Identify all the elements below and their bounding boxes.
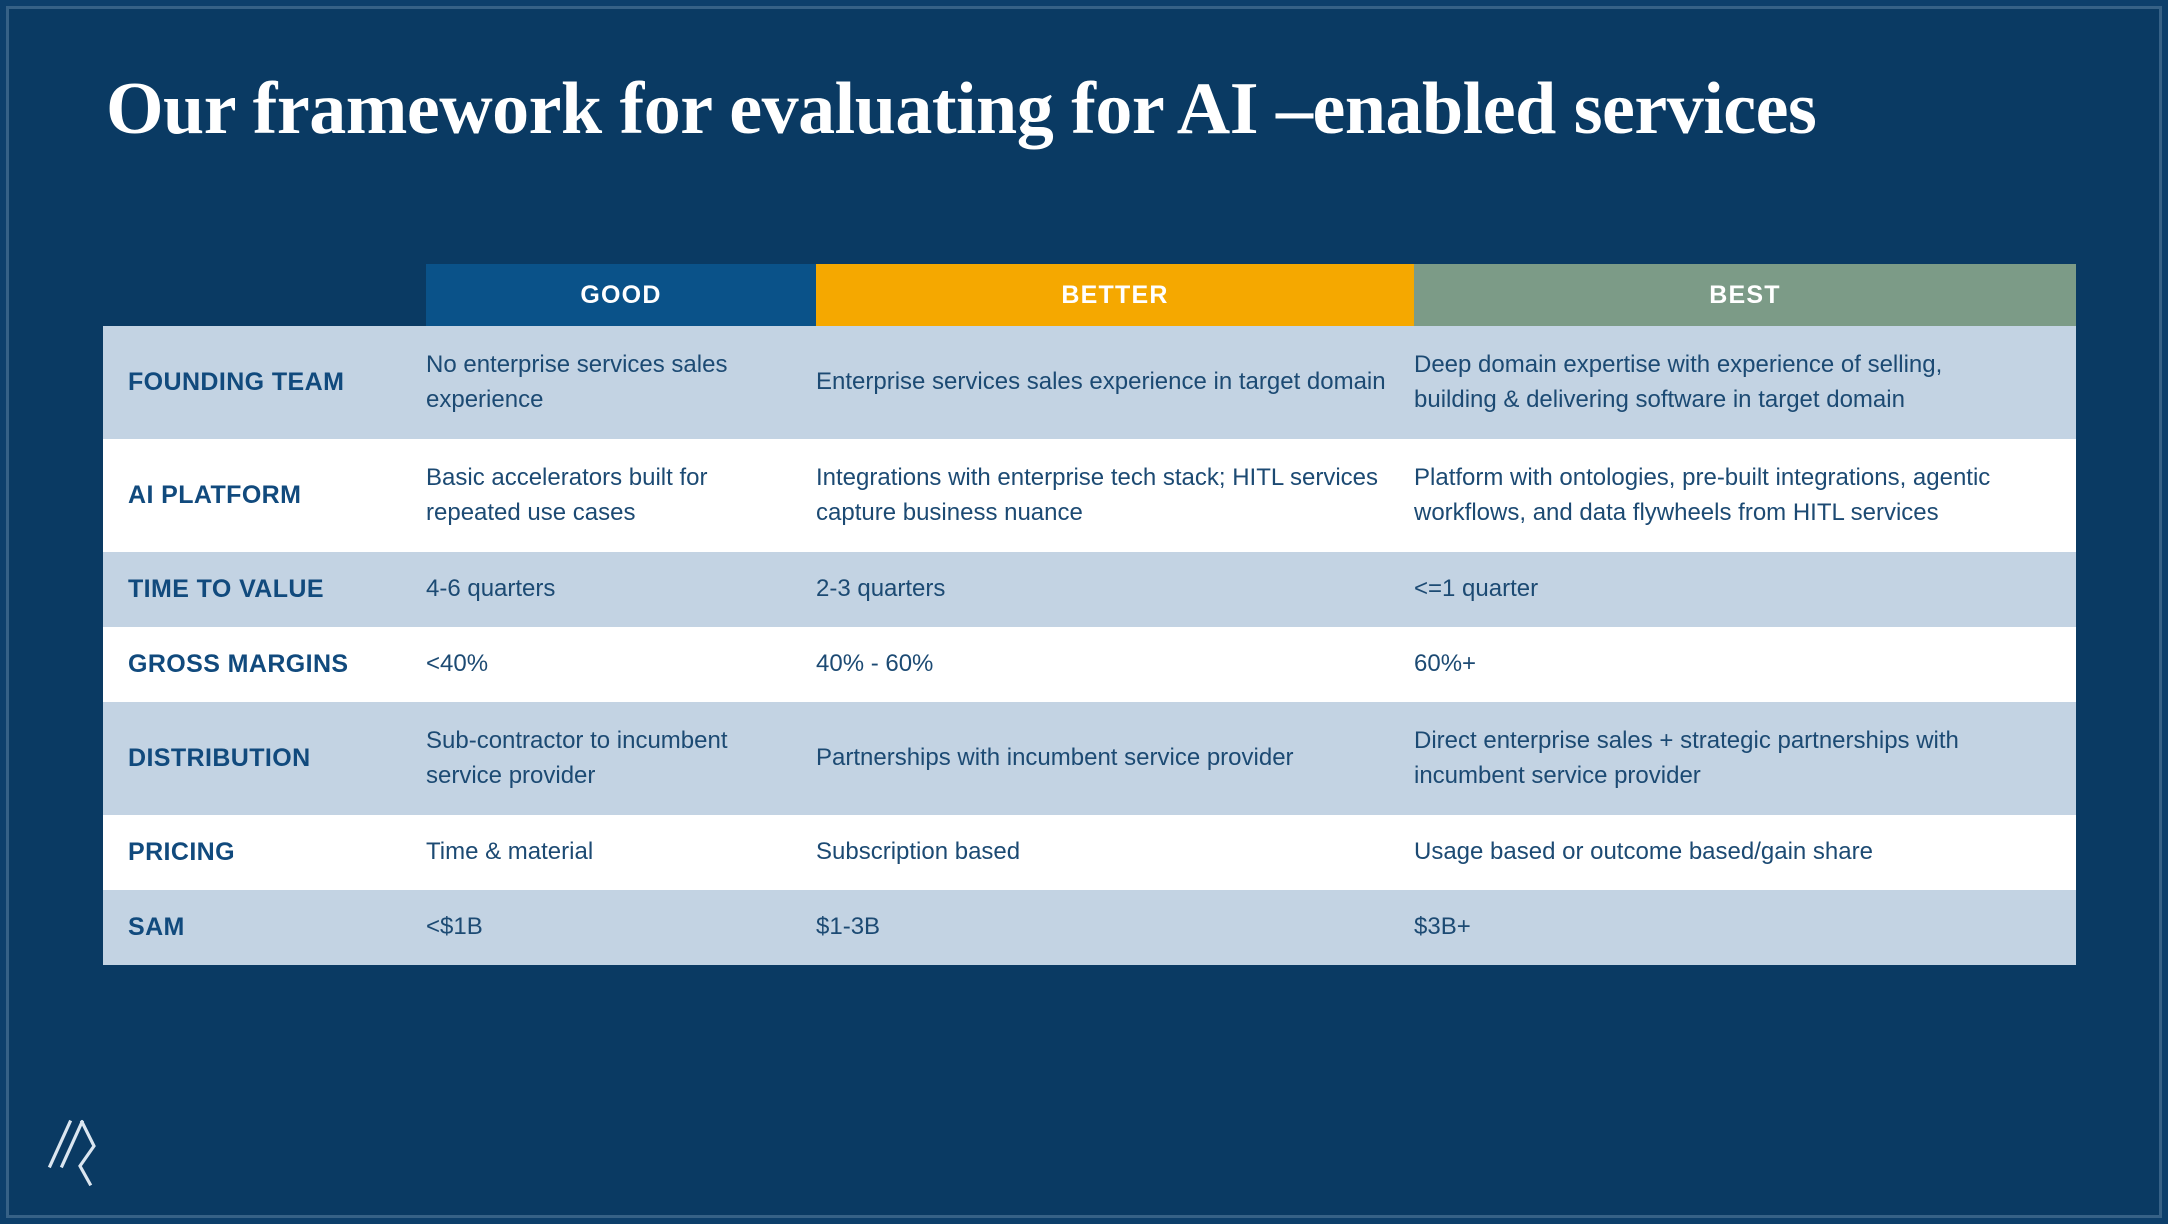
cell-good: Sub-contractor to incumbent service prov… [426, 724, 816, 792]
cell-good: <40% [426, 647, 816, 681]
cell-best: 60%+ [1414, 647, 2076, 681]
row-label: DISTRIBUTION [103, 742, 426, 775]
cell-good: Time & material [426, 835, 816, 869]
table-row: PRICINGTime & materialSubscription based… [103, 815, 2076, 890]
table-row: GROSS MARGINS<40%40% - 60%60%+ [103, 627, 2076, 702]
table-row: SAM<$1B$1-3B$3B+ [103, 890, 2076, 965]
column-header-best: BEST [1414, 264, 2076, 326]
cell-better: 40% - 60% [816, 647, 1414, 681]
cell-good: Basic accelerators built for repeated us… [426, 461, 816, 529]
row-label: TIME TO VALUE [103, 573, 426, 606]
cell-best: <=1 quarter [1414, 572, 2076, 606]
cell-better: Subscription based [816, 835, 1414, 869]
cell-best: Direct enterprise sales + strategic part… [1414, 724, 2076, 792]
cell-better: Integrations with enterprise tech stack;… [816, 461, 1414, 529]
cell-better: 2-3 quarters [816, 572, 1414, 606]
comparison-header-row: GOOD BETTER BEST [426, 264, 2076, 326]
comparison-table: FOUNDING TEAMNo enterprise services sale… [103, 326, 2076, 965]
cell-good: No enterprise services sales experience [426, 348, 816, 416]
row-label: FOUNDING TEAM [103, 366, 426, 399]
cell-good: <$1B [426, 910, 816, 944]
table-row: AI PLATFORMBasic accelerators built for … [103, 439, 2076, 552]
cell-best: Usage based or outcome based/gain share [1414, 835, 2076, 869]
cell-best: $3B+ [1414, 910, 2076, 944]
row-label: AI PLATFORM [103, 479, 426, 512]
cell-best: Platform with ontologies, pre-built inte… [1414, 461, 2076, 529]
page-title: Our framework for evaluating for AI –ena… [106, 68, 1866, 151]
column-header-better: BETTER [816, 264, 1414, 326]
cell-best: Deep domain expertise with experience of… [1414, 348, 2076, 416]
table-row: FOUNDING TEAMNo enterprise services sale… [103, 326, 2076, 439]
row-label: GROSS MARGINS [103, 648, 426, 681]
cell-better: Enterprise services sales experience in … [816, 365, 1414, 399]
table-row: TIME TO VALUE4-6 quarters2-3 quarters<=1… [103, 552, 2076, 627]
slide-canvas: Our framework for evaluating for AI –ena… [0, 0, 2168, 1224]
row-label: PRICING [103, 836, 426, 869]
row-label: SAM [103, 911, 426, 944]
cell-better: $1-3B [816, 910, 1414, 944]
brand-logo [44, 1116, 106, 1190]
cell-good: 4-6 quarters [426, 572, 816, 606]
cell-better: Partnerships with incumbent service prov… [816, 741, 1414, 775]
table-row: DISTRIBUTIONSub-contractor to incumbent … [103, 702, 2076, 815]
column-header-good: GOOD [426, 264, 816, 326]
